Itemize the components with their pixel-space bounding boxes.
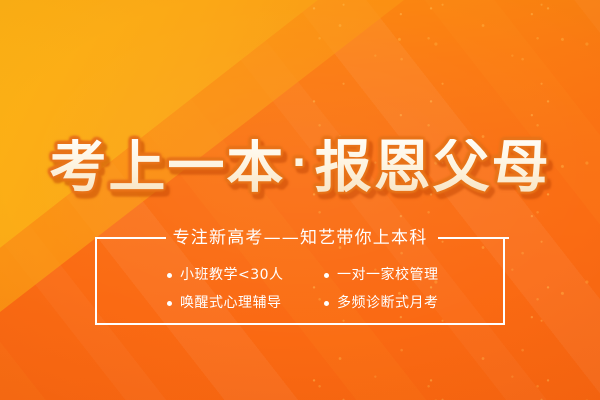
feature-item: 一对一家校管理: [300, 264, 487, 286]
headline-left-text: 考上一本: [49, 134, 285, 200]
promo-banner: 考上一本·报恩父母 专注新高考——知艺带你上本科 小班教学<30人 一对一家校管…: [0, 0, 600, 400]
background-vignette: [0, 0, 600, 400]
bullet-icon: [167, 273, 172, 278]
feature-item: 小班教学<30人: [113, 264, 300, 286]
bracket-top-segment: [95, 237, 166, 239]
feature-item: 唤醒式心理辅导: [113, 292, 300, 314]
bullet-icon: [324, 301, 329, 306]
feature-label: 唤醒式心理辅导: [180, 292, 282, 314]
feature-label: 小班教学<30人: [180, 264, 284, 286]
feature-list: 小班教学<30人 一对一家校管理 唤醒式心理辅导 多频诊断式月考: [95, 264, 505, 314]
headline: 考上一本·报恩父母: [49, 139, 550, 196]
headline-separator-dot: ·: [285, 140, 314, 186]
feature-label: 一对一家校管理: [337, 264, 439, 286]
feature-item: 多频诊断式月考: [300, 292, 487, 314]
feature-label: 多频诊断式月考: [337, 292, 439, 314]
headline-right-text: 报恩父母: [315, 134, 551, 200]
bracket-top-segment: [438, 237, 509, 239]
bullet-icon: [167, 301, 172, 306]
bullet-icon: [324, 273, 329, 278]
headline-row: 考上一本·报恩父母: [0, 139, 600, 196]
